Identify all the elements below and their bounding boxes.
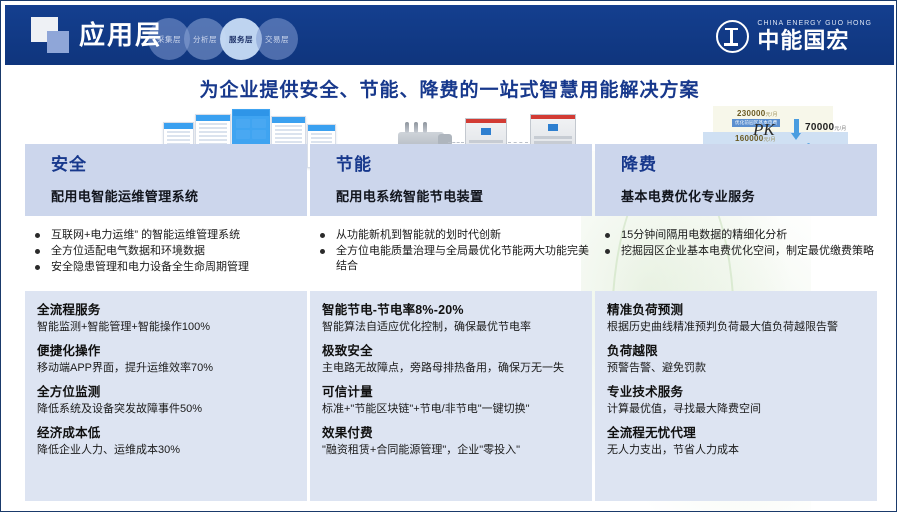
detail-item: 效果付费 "融资租赁+合同能源管理"，企业"零投入" bbox=[322, 425, 580, 457]
detail-title: 负荷越限 bbox=[607, 343, 865, 359]
bullet-dot-icon bbox=[605, 249, 610, 254]
detail-box-energy-saving: 智能节电-节电率8%-20% 智能算法自适应优化控制，确保最优节电率 极致安全 … bbox=[310, 291, 592, 501]
detail-title: 效果付费 bbox=[322, 425, 580, 441]
detail-item: 便捷化操作 移动端APP界面，提升运维效率70% bbox=[37, 343, 295, 375]
pk-value-before-number: 230000 bbox=[737, 109, 766, 118]
detail-text: 预警告警、避免罚款 bbox=[607, 361, 865, 375]
list-item: 安全隐患管理和电力设备全生命周期管理 bbox=[29, 260, 307, 275]
slide-canvas: 采集层 分析层 服务层 交易层 应用层 CHINA ENERGY GUO HON… bbox=[0, 0, 897, 512]
layer-circle-trade[interactable]: 交易层 bbox=[256, 18, 298, 60]
bullet-dot-icon bbox=[35, 233, 40, 238]
detail-title: 专业技术服务 bbox=[607, 384, 865, 400]
bullet-dot-icon bbox=[605, 233, 610, 238]
bullet-dot-icon bbox=[320, 249, 325, 254]
card-header-energy-saving: 节能 配用电系统智能节电装置 bbox=[310, 144, 592, 216]
pk-label: PK bbox=[753, 120, 775, 140]
list-item-label: 互联网+电力运维” 的智能运维管理系统 bbox=[51, 229, 240, 241]
detail-item: 全流程服务 智能监测+智能管理+智能操作100% bbox=[37, 302, 295, 334]
bullet-list-safety: 互联网+电力运维” 的智能运维管理系统 全方位适配电气数据和环境数据 安全隐患管… bbox=[29, 228, 307, 288]
columns-container: 安全 配用电智能运维管理系统 互联网+电力运维” 的智能运维管理系统 全方位适配… bbox=[25, 106, 877, 501]
card-header-safety: 安全 配用电智能运维管理系统 bbox=[25, 144, 307, 216]
detail-text: 智能监测+智能管理+智能操作100% bbox=[37, 320, 295, 334]
logo-squares-icon bbox=[31, 17, 77, 57]
pk-value-before-unit: 元/月 bbox=[766, 112, 778, 118]
pk-value-saving: 70000元/月 bbox=[805, 122, 847, 133]
detail-text: 无人力支出，节省人力成本 bbox=[607, 443, 865, 457]
detail-item: 智能节电-节电率8%-20% 智能算法自适应优化控制，确保最优节电率 bbox=[322, 302, 580, 334]
detail-box-safety: 全流程服务 智能监测+智能管理+智能操作100% 便捷化操作 移动端APP界面，… bbox=[25, 291, 307, 501]
pk-value-saving-number: 70000 bbox=[805, 122, 834, 133]
pk-arrow-down-icon bbox=[794, 119, 799, 133]
bullet-dot-icon bbox=[35, 249, 40, 254]
list-item-label: 挖掘园区企业基本电费优化空间，制定最优缴费策略 bbox=[621, 245, 874, 257]
detail-text: "融资租赁+合同能源管理"，企业"零投入" bbox=[322, 443, 580, 457]
detail-item: 负荷越限 预警告警、避免罚款 bbox=[607, 343, 865, 375]
list-item: 挖掘园区企业基本电费优化空间，制定最优缴费策略 bbox=[599, 244, 877, 259]
bullet-list-cost-reduction: 15分钟间隔用电数据的精细化分析 挖掘园区企业基本电费优化空间，制定最优缴费策略 bbox=[599, 228, 877, 288]
list-item: 互联网+电力运维” 的智能运维管理系统 bbox=[29, 228, 307, 243]
detail-text: 移动端APP界面，提升运维效率70% bbox=[37, 361, 295, 375]
detail-title: 经济成本低 bbox=[37, 425, 295, 441]
detail-title: 全流程无忧代理 bbox=[607, 425, 865, 441]
detail-item: 全流程无忧代理 无人力支出，节省人力成本 bbox=[607, 425, 865, 457]
detail-item: 经济成本低 降低企业人力、运维成本30% bbox=[37, 425, 295, 457]
card-header-cost-reduction: 降费 基本电费优化专业服务 bbox=[595, 144, 877, 216]
list-item-label: 安全隐患管理和电力设备全生命周期管理 bbox=[51, 261, 249, 273]
bullet-dot-icon bbox=[320, 233, 325, 238]
detail-text: 降低企业人力、运维成本30% bbox=[37, 443, 295, 457]
list-item: 全方位适配电气数据和环境数据 bbox=[29, 244, 307, 259]
detail-item: 专业技术服务 计算最优值，寻找最大降费空间 bbox=[607, 384, 865, 416]
detail-box-cost-reduction: 精准负荷预测 根据历史曲线精准预判负荷最大值负荷越限告警 负荷越限 预警告警、避… bbox=[595, 291, 877, 501]
detail-title: 智能节电-节电率8%-20% bbox=[322, 302, 580, 318]
list-item: 从功能新机到智能就的划时代创新 bbox=[314, 228, 592, 243]
card-subtitle: 基本电费优化专业服务 bbox=[621, 186, 877, 205]
brand-logo: CHINA ENERGY GUO HONG 中能国宏 bbox=[716, 17, 872, 55]
detail-title: 精准负荷预测 bbox=[607, 302, 865, 318]
layer-circles: 采集层 分析层 服务层 交易层 bbox=[148, 18, 308, 60]
card-kicker: 降费 bbox=[621, 153, 877, 177]
detail-text: 智能算法自适应优化控制，确保最优节电率 bbox=[322, 320, 580, 334]
detail-text: 标准+"节能区块链"+节电/非节电"一键切换" bbox=[322, 402, 580, 416]
header-bar: 采集层 分析层 服务层 交易层 应用层 CHINA ENERGY GUO HON… bbox=[5, 5, 894, 65]
page-title: 为企业提供安全、节能、降费的一站式智慧用能解决方案 bbox=[1, 75, 897, 102]
header-layer-title: 应用层 bbox=[79, 17, 163, 53]
pk-value-before: 230000元/月 bbox=[737, 109, 778, 118]
list-item-label: 从功能新机到智能就的划时代创新 bbox=[336, 229, 501, 241]
detail-title: 极致安全 bbox=[322, 343, 580, 359]
detail-text: 主电路无故障点，旁路母排热备用，确保万无一失 bbox=[322, 361, 580, 375]
bullet-list-energy-saving: 从功能新机到智能就的划时代创新 全方位电能质量治理与全局最优化节能两大功能完美结… bbox=[314, 228, 592, 288]
detail-item: 全方位监测 降低系统及设备突发故障事件50% bbox=[37, 384, 295, 416]
card-kicker: 节能 bbox=[336, 153, 592, 177]
list-item: 15分钟间隔用电数据的精细化分析 bbox=[599, 228, 877, 243]
list-item-label: 15分钟间隔用电数据的精细化分析 bbox=[621, 229, 787, 241]
column-cost-reduction: 230000元/月 优化前园区基本电费 160000元/月 优化后园区基本电费 … bbox=[595, 106, 877, 501]
detail-title: 全流程服务 bbox=[37, 302, 295, 318]
card-subtitle: 配用电系统智能节电装置 bbox=[336, 186, 592, 205]
bullet-dot-icon bbox=[35, 265, 40, 270]
detail-item: 可信计量 标准+"节能区块链"+节电/非节电"一键切换" bbox=[322, 384, 580, 416]
detail-text: 降低系统及设备突发故障事件50% bbox=[37, 402, 295, 416]
detail-title: 可信计量 bbox=[322, 384, 580, 400]
card-subtitle: 配用电智能运维管理系统 bbox=[51, 186, 307, 205]
detail-title: 全方位监测 bbox=[37, 384, 295, 400]
brand-mark-icon bbox=[716, 20, 749, 53]
detail-item: 极致安全 主电路无故障点，旁路母排热备用，确保万无一失 bbox=[322, 343, 580, 375]
list-item: 全方位电能质量治理与全局最优化节能两大功能完美结合 bbox=[314, 244, 592, 274]
detail-text: 根据历史曲线精准预判负荷最大值负荷越限告警 bbox=[607, 320, 865, 334]
pk-value-saving-unit: 元/月 bbox=[834, 126, 846, 132]
list-item-label: 全方位适配电气数据和环境数据 bbox=[51, 245, 205, 257]
list-item-label: 全方位电能质量治理与全局最优化节能两大功能完美结合 bbox=[336, 245, 589, 272]
card-kicker: 安全 bbox=[51, 153, 307, 177]
column-safety: 安全 配用电智能运维管理系统 互联网+电力运维” 的智能运维管理系统 全方位适配… bbox=[25, 106, 307, 501]
square-blue-icon bbox=[47, 31, 69, 53]
column-energy-saving: 节能 配用电系统智能节电装置 从功能新机到智能就的划时代创新 全方位电能质量治理… bbox=[310, 106, 592, 501]
detail-title: 便捷化操作 bbox=[37, 343, 295, 359]
brand-name-cn: 中能国宏 bbox=[757, 29, 872, 53]
detail-text: 计算最优值，寻找最大降费空间 bbox=[607, 402, 865, 416]
detail-item: 精准负荷预测 根据历史曲线精准预判负荷最大值负荷越限告警 bbox=[607, 302, 865, 334]
brand-name-en: CHINA ENERGY GUO HONG bbox=[757, 19, 872, 28]
